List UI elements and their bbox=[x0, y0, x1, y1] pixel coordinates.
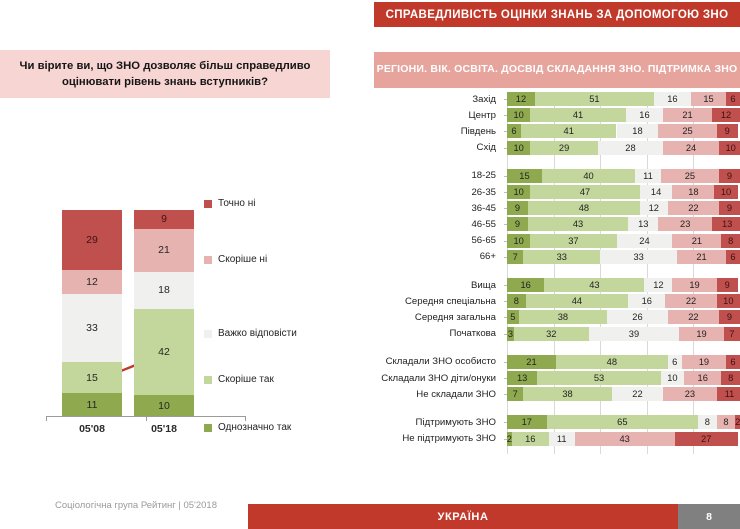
legend-item-1: Скоріше ні bbox=[204, 254, 267, 265]
breakdown-row: 26-351047141810 bbox=[374, 185, 740, 199]
breakdown-segment: 17 bbox=[507, 415, 547, 429]
breakdown-segment: 43 bbox=[528, 217, 628, 231]
trend-segment: 11 bbox=[62, 393, 122, 416]
legend-item-4: Однозначно так bbox=[204, 422, 291, 433]
breakdown-segment: 12 bbox=[640, 201, 668, 215]
breakdown-segment: 6 bbox=[726, 250, 740, 264]
section-header-title: РЕГІОНИ. ВІК. ОСВІТА. ДОСВІД СКЛАДАННЯ З… bbox=[377, 62, 738, 78]
breakdown-segment: 11 bbox=[549, 432, 575, 446]
legend-label: Скоріше ні bbox=[218, 254, 267, 265]
breakdown-segment: 9 bbox=[717, 278, 738, 292]
breakdown-row-label: Середня спеціальна bbox=[374, 294, 501, 308]
trend-segment: 10 bbox=[134, 395, 194, 416]
breakdown-segment: 14 bbox=[640, 185, 673, 199]
breakdown-row-bar: 135310168 bbox=[507, 371, 740, 385]
breakdown-row-bar: 64118259 bbox=[507, 124, 740, 138]
breakdown-segment: 26 bbox=[607, 310, 668, 324]
breakdown-segment: 22 bbox=[612, 387, 663, 401]
legend-label: Важко відповісти bbox=[218, 328, 297, 339]
breakdown-row-label: 36-45 bbox=[374, 201, 501, 215]
legend-swatch-icon bbox=[204, 256, 212, 264]
breakdown-segment: 2 bbox=[735, 415, 740, 429]
breakdown-row-label: Складали ЗНО діти/онуки bbox=[374, 371, 501, 385]
breakdown-row-bar: 73333216 bbox=[507, 250, 740, 264]
breakdown-segment: 47 bbox=[530, 185, 640, 199]
breakdown-segment: 43 bbox=[575, 432, 675, 446]
breakdown-segment: 40 bbox=[542, 169, 635, 183]
breakdown-segment: 18 bbox=[617, 124, 659, 138]
breakdown-segment: 10 bbox=[661, 371, 684, 385]
breakdown-segment: 7 bbox=[507, 387, 523, 401]
trend-column: 1115331229 bbox=[62, 160, 122, 416]
section-header: РЕГІОНИ. ВІК. ОСВІТА. ДОСВІД СКЛАДАННЯ З… bbox=[374, 52, 740, 88]
breakdown-segment: 12 bbox=[507, 92, 535, 106]
breakdown-segment: 11 bbox=[717, 387, 740, 401]
breakdown-segment: 9 bbox=[719, 169, 740, 183]
breakdown-row-bar: 943132313 bbox=[507, 217, 740, 231]
breakdown-segment: 9 bbox=[507, 217, 528, 231]
breakdown-segment: 10 bbox=[714, 185, 737, 199]
trend-segment: 42 bbox=[134, 309, 194, 396]
breakdown-segment: 10 bbox=[507, 234, 530, 248]
breakdown-segment: 5 bbox=[507, 310, 519, 324]
breakdown-row-label: Вища bbox=[374, 278, 501, 292]
breakdown-segment: 10 bbox=[719, 141, 740, 155]
page-number: 8 bbox=[706, 511, 712, 523]
breakdown-chart: Захід125116156Центр1041162112Південь6411… bbox=[374, 92, 740, 484]
breakdown-segment: 33 bbox=[523, 250, 600, 264]
breakdown-segment: 15 bbox=[507, 169, 542, 183]
breakdown-segment: 41 bbox=[530, 108, 626, 122]
breakdown-segment: 44 bbox=[526, 294, 629, 308]
breakdown-segment: 16 bbox=[626, 108, 663, 122]
question-box: Чи вірите ви, що ЗНО дозволяє більш спра… bbox=[0, 50, 330, 98]
axis-tick bbox=[146, 416, 147, 421]
breakdown-segment: 10 bbox=[507, 141, 530, 155]
breakdown-row: Середня спеціальна844162210 bbox=[374, 294, 740, 308]
breakdown-segment: 8 bbox=[698, 415, 717, 429]
trend-segment: 9 bbox=[134, 210, 194, 229]
breakdown-row: 46-55943132313 bbox=[374, 217, 740, 231]
breakdown-row-label: Південь bbox=[374, 124, 501, 138]
breakdown-segment: 21 bbox=[672, 234, 721, 248]
breakdown-row-bar: 1047141810 bbox=[507, 185, 740, 199]
legend-swatch-icon bbox=[204, 376, 212, 384]
axis-tick bbox=[46, 416, 47, 421]
breakdown-segment: 10 bbox=[717, 294, 740, 308]
breakdown-segment: 3 bbox=[507, 327, 514, 341]
breakdown-row: Складали ЗНО діти/онуки135310168 bbox=[374, 371, 740, 385]
axis-label-1: 05'18 bbox=[124, 423, 204, 435]
breakdown-segment: 10 bbox=[507, 185, 530, 199]
breakdown-row-bar: 94812229 bbox=[507, 201, 740, 215]
breakdown-row-label: Не складали ЗНО bbox=[374, 387, 501, 401]
breakdown-row-bar: 103724218 bbox=[507, 234, 740, 248]
breakdown-row-label: Схід bbox=[374, 141, 501, 155]
breakdown-segment: 22 bbox=[668, 310, 719, 324]
breakdown-segment: 8 bbox=[721, 234, 740, 248]
breakdown-segment: 13 bbox=[507, 371, 537, 385]
breakdown-row: 18-25154011259 bbox=[374, 169, 740, 183]
breakdown-segment: 9 bbox=[507, 201, 528, 215]
trend-segment: 29 bbox=[62, 210, 122, 270]
legend-item-3: Скоріше так bbox=[204, 374, 274, 385]
legend-swatch-icon bbox=[204, 200, 212, 208]
breakdown-segment: 51 bbox=[535, 92, 654, 106]
trend-column: 104218219 bbox=[134, 160, 194, 416]
breakdown-row-bar: 1765882 bbox=[507, 415, 740, 429]
breakdown-row-label: Складали ЗНО особисто bbox=[374, 355, 501, 369]
breakdown-row-bar: 1029282410 bbox=[507, 141, 740, 155]
breakdown-row: Захід125116156 bbox=[374, 92, 740, 106]
breakdown-segment: 12 bbox=[712, 108, 740, 122]
breakdown-row-bar: 164312199 bbox=[507, 278, 740, 292]
breakdown-segment: 7 bbox=[724, 327, 740, 341]
breakdown-segment: 16 bbox=[628, 294, 665, 308]
breakdown-segment: 19 bbox=[679, 327, 723, 341]
question-text: Чи вірите ви, що ЗНО дозволяє більш спра… bbox=[14, 58, 316, 91]
breakdown-segment: 19 bbox=[682, 355, 726, 369]
breakdown-row-bar: 1041162112 bbox=[507, 108, 740, 122]
breakdown-row: 66+73333216 bbox=[374, 250, 740, 264]
breakdown-row-bar: 125116156 bbox=[507, 92, 740, 106]
slide-title: СПРАВЕДЛИВІСТЬ ОЦІНКИ ЗНАНЬ ЗА ДОПОМОГОЮ… bbox=[386, 9, 729, 21]
breakdown-segment: 27 bbox=[675, 432, 738, 446]
breakdown-segment: 13 bbox=[628, 217, 658, 231]
breakdown-segment: 23 bbox=[658, 217, 712, 231]
legend-label: Однозначно так bbox=[218, 422, 291, 433]
axis-tick bbox=[245, 416, 246, 421]
legend-swatch-icon bbox=[204, 330, 212, 338]
breakdown-row-label: 66+ bbox=[374, 250, 501, 264]
breakdown-row-label: Не підтримують ЗНО bbox=[374, 432, 501, 446]
breakdown-segment: 21 bbox=[663, 108, 712, 122]
breakdown-row-label: Центр bbox=[374, 108, 501, 122]
breakdown-segment: 24 bbox=[617, 234, 673, 248]
legend-item-0: Точно ні bbox=[204, 198, 256, 209]
breakdown-segment: 23 bbox=[663, 387, 717, 401]
breakdown-segment: 48 bbox=[556, 355, 668, 369]
breakdown-segment: 25 bbox=[661, 169, 719, 183]
breakdown-segment: 37 bbox=[530, 234, 616, 248]
breakdown-segment: 32 bbox=[514, 327, 589, 341]
breakdown-row: Середня загальна53826229 bbox=[374, 310, 740, 324]
breakdown-segment: 19 bbox=[672, 278, 716, 292]
breakdown-segment: 12 bbox=[644, 278, 672, 292]
breakdown-row: Схід1029282410 bbox=[374, 141, 740, 155]
breakdown-segment: 33 bbox=[600, 250, 677, 264]
breakdown-row: Вища164312199 bbox=[374, 278, 740, 292]
breakdown-row: Південь64118259 bbox=[374, 124, 740, 138]
breakdown-segment: 41 bbox=[521, 124, 617, 138]
breakdown-row: Не підтримують ЗНО216114327 bbox=[374, 432, 740, 446]
legend-swatch-icon bbox=[204, 424, 212, 432]
breakdown-segment: 22 bbox=[668, 201, 719, 215]
breakdown-segment: 13 bbox=[712, 217, 740, 231]
axis-label-0: 05'08 bbox=[52, 423, 132, 435]
trend-chart: 111533122905'0810421821905'18 bbox=[0, 160, 340, 450]
breakdown-row-label: 46-55 bbox=[374, 217, 501, 231]
breakdown-segment: 6 bbox=[507, 124, 521, 138]
footer-banner: УКРАЇНА bbox=[248, 504, 678, 529]
breakdown-row-label: Підтримують ЗНО bbox=[374, 415, 501, 429]
trend-segment: 33 bbox=[62, 294, 122, 362]
breakdown-segment: 8 bbox=[507, 294, 526, 308]
breakdown-row-label: 56-65 bbox=[374, 234, 501, 248]
breakdown-row: Не складали ЗНО738222311 bbox=[374, 387, 740, 401]
breakdown-segment: 10 bbox=[507, 108, 530, 122]
breakdown-row-bar: 154011259 bbox=[507, 169, 740, 183]
breakdown-segment: 8 bbox=[717, 415, 736, 429]
breakdown-row: Центр1041162112 bbox=[374, 108, 740, 122]
breakdown-segment: 9 bbox=[719, 310, 740, 324]
breakdown-segment: 22 bbox=[665, 294, 716, 308]
breakdown-segment: 11 bbox=[635, 169, 661, 183]
breakdown-segment: 6 bbox=[726, 355, 740, 369]
breakdown-row-label: 26-35 bbox=[374, 185, 501, 199]
breakdown-segment: 9 bbox=[719, 201, 740, 215]
breakdown-segment: 16 bbox=[512, 432, 549, 446]
breakdown-row-bar: 33239197 bbox=[507, 327, 740, 341]
breakdown-segment: 8 bbox=[721, 371, 740, 385]
breakdown-segment: 28 bbox=[598, 141, 663, 155]
breakdown-segment: 7 bbox=[507, 250, 523, 264]
legend-item-2: Важко відповісти bbox=[204, 328, 297, 339]
slide-title-bar: СПРАВЕДЛИВІСТЬ ОЦІНКИ ЗНАНЬ ЗА ДОПОМОГОЮ… bbox=[374, 2, 740, 27]
breakdown-row-label: Середня загальна bbox=[374, 310, 501, 324]
legend-label: Скоріше так bbox=[218, 374, 274, 385]
breakdown-segment: 15 bbox=[691, 92, 726, 106]
footer-banner-label: УКРАЇНА bbox=[438, 511, 489, 523]
breakdown-segment: 39 bbox=[589, 327, 680, 341]
breakdown-row-bar: 21486196 bbox=[507, 355, 740, 369]
breakdown-row-bar: 844162210 bbox=[507, 294, 740, 308]
breakdown-segment: 43 bbox=[544, 278, 644, 292]
breakdown-row: Початкова33239197 bbox=[374, 327, 740, 341]
breakdown-row-label: Захід bbox=[374, 92, 501, 106]
breakdown-row: Підтримують ЗНО1765882 bbox=[374, 415, 740, 429]
breakdown-segment: 16 bbox=[654, 92, 691, 106]
trend-segment: 21 bbox=[134, 229, 194, 272]
breakdown-segment: 21 bbox=[507, 355, 556, 369]
page-number-box: 8 bbox=[678, 504, 740, 529]
breakdown-segment: 16 bbox=[684, 371, 721, 385]
breakdown-segment: 18 bbox=[672, 185, 714, 199]
breakdown-segment: 25 bbox=[658, 124, 716, 138]
breakdown-segment: 6 bbox=[726, 92, 740, 106]
legend-label: Точно ні bbox=[218, 198, 256, 209]
breakdown-segment: 24 bbox=[663, 141, 719, 155]
breakdown-row-bar: 216114327 bbox=[507, 432, 740, 446]
breakdown-segment: 48 bbox=[528, 201, 640, 215]
breakdown-row-bar: 738222311 bbox=[507, 387, 740, 401]
breakdown-segment: 9 bbox=[717, 124, 738, 138]
breakdown-segment: 65 bbox=[547, 415, 698, 429]
breakdown-segment: 38 bbox=[519, 310, 608, 324]
trend-segment: 12 bbox=[62, 270, 122, 295]
breakdown-row: 36-4594812229 bbox=[374, 201, 740, 215]
trend-segment: 15 bbox=[62, 362, 122, 393]
footer-source: Соціологічна група Рейтинг | 05'2018 bbox=[55, 500, 217, 511]
breakdown-row-bar: 53826229 bbox=[507, 310, 740, 324]
breakdown-row: Складали ЗНО особисто21486196 bbox=[374, 355, 740, 369]
trend-segment: 18 bbox=[134, 272, 194, 309]
breakdown-segment: 16 bbox=[507, 278, 544, 292]
breakdown-segment: 21 bbox=[677, 250, 726, 264]
breakdown-row: 56-65103724218 bbox=[374, 234, 740, 248]
breakdown-segment: 53 bbox=[537, 371, 660, 385]
breakdown-segment: 38 bbox=[523, 387, 612, 401]
breakdown-segment: 29 bbox=[530, 141, 598, 155]
breakdown-segment: 6 bbox=[668, 355, 682, 369]
breakdown-row-label: Початкова bbox=[374, 327, 501, 341]
breakdown-row-label: 18-25 bbox=[374, 169, 501, 183]
